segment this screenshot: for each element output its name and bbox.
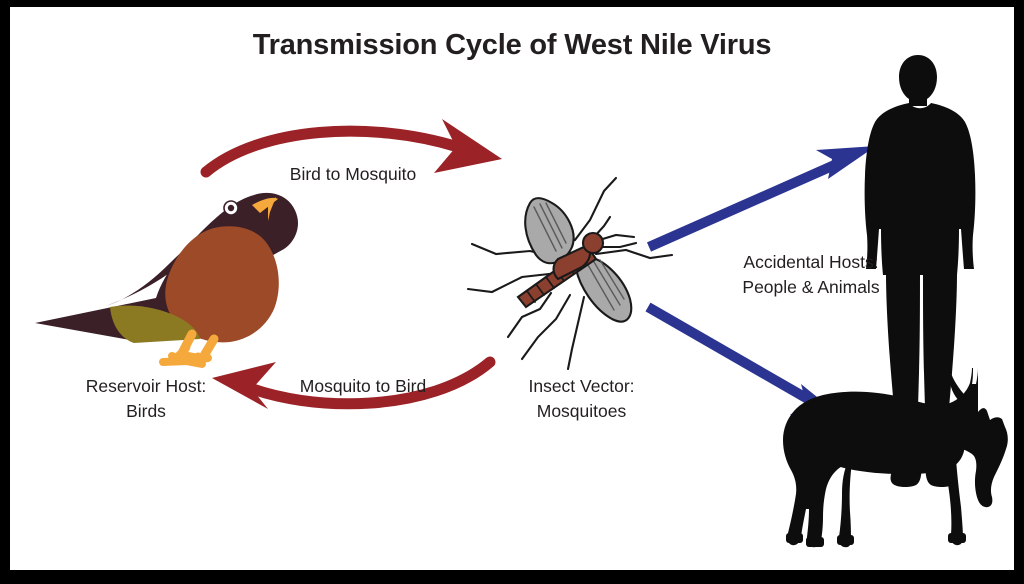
label-bird-to-mosquito: Bird to Mosquito bbox=[268, 162, 438, 187]
horse-side-view-silhouette bbox=[783, 368, 1008, 547]
label-insect-vector: Insect Vector: Mosquitoes bbox=[504, 374, 659, 424]
label-accidental-hosts: Accidental Hosts: People & Animals bbox=[716, 250, 906, 300]
label-mosquito-to-bird: Mosquito to Bird bbox=[278, 374, 448, 399]
diagram-canvas: Transmission Cycle of West Nile Virus bbox=[10, 7, 1014, 570]
label-reservoir-host: Reservoir Host: Birds bbox=[60, 374, 232, 424]
diagram-page: Transmission Cycle of West Nile Virus bbox=[0, 0, 1024, 584]
